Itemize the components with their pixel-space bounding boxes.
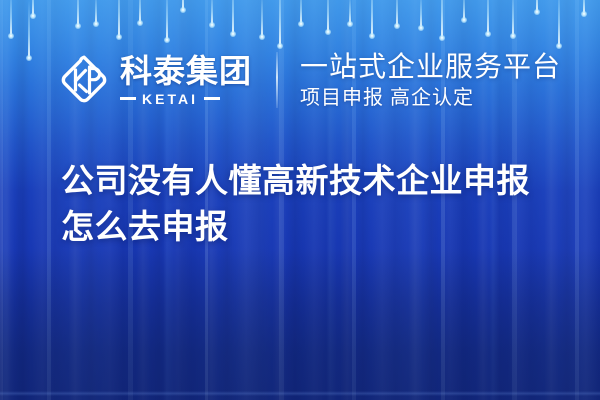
light-streak-icon bbox=[139, 0, 141, 23]
dash-left-icon bbox=[120, 97, 136, 100]
bottom-shade-overlay bbox=[0, 250, 600, 400]
light-streak-icon bbox=[327, 0, 329, 32]
dash-right-icon bbox=[204, 97, 220, 100]
light-streak-icon bbox=[77, 0, 79, 26]
light-streak-icon bbox=[558, 0, 560, 46]
tagline-sub: 项目申报 高企认定 bbox=[300, 86, 561, 110]
light-streak-icon bbox=[420, 0, 422, 28]
headline-text: 公司没有人懂高新技术企业申报怎么去申报 bbox=[61, 158, 561, 250]
light-streak-icon bbox=[463, 0, 465, 20]
light-streak-icon bbox=[211, 0, 213, 25]
light-streak-icon bbox=[512, 0, 514, 36]
light-streak-icon bbox=[166, 0, 168, 40]
brand-name-en: KETAI bbox=[142, 91, 198, 107]
promo-banner: 科泰集团 KETAI 一站式企业服务平台 项目申报 高企认定 公司没有人懂高新技… bbox=[0, 0, 600, 400]
light-streak-icon bbox=[536, 0, 538, 12]
light-streak-icon bbox=[349, 0, 351, 24]
light-streak-icon bbox=[441, 0, 443, 38]
brand-wordmark: 科泰集团 KETAI bbox=[120, 54, 252, 107]
light-streak-icon bbox=[28, 0, 30, 58]
tagline-block: 一站式企业服务平台 项目申报 高企认定 bbox=[300, 51, 561, 110]
bottom-light-band bbox=[0, 391, 600, 396]
light-streak-icon bbox=[118, 0, 120, 37]
vertical-divider bbox=[276, 52, 278, 108]
light-streak-icon bbox=[300, 0, 302, 24]
light-streak-icon bbox=[261, 0, 263, 37]
ketai-logo-icon[interactable] bbox=[58, 54, 110, 106]
tagline-main: 一站式企业服务平台 bbox=[300, 51, 561, 83]
brand-header: 科泰集团 KETAI 一站式企业服务平台 项目申报 高企认定 bbox=[58, 46, 561, 114]
light-streak-icon bbox=[487, 0, 489, 34]
light-streak-icon bbox=[232, 0, 234, 34]
light-streak-icon bbox=[182, 0, 184, 10]
light-streak-icon bbox=[396, 0, 398, 26]
light-streak-icon bbox=[95, 0, 97, 24]
light-streak-icon bbox=[10, 0, 12, 36]
light-streak-icon bbox=[32, 0, 34, 16]
light-streak-icon bbox=[371, 0, 373, 36]
light-streak-icon bbox=[279, 0, 281, 46]
brand-name-en-row: KETAI bbox=[120, 91, 252, 107]
brand-name-cn: 科泰集团 bbox=[120, 54, 252, 88]
light-streak-icon bbox=[583, 0, 585, 14]
